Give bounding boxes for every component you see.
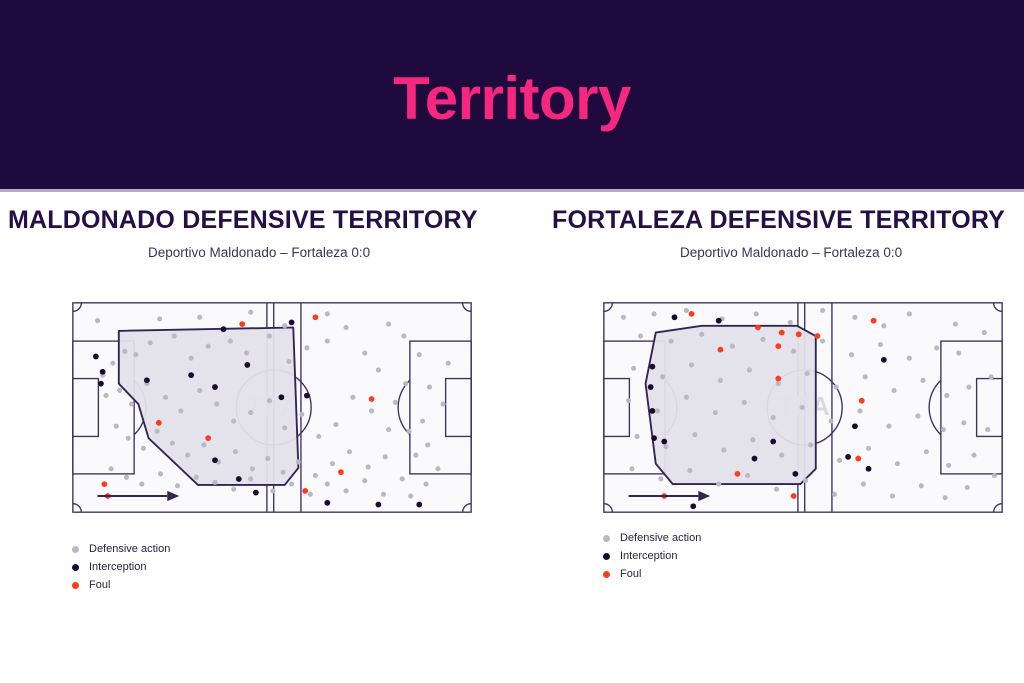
legend-label-interception: Interception	[620, 551, 677, 562]
event-dot-foul	[791, 493, 797, 499]
event-dot-foul	[239, 321, 245, 327]
event-dot-defensive-action	[779, 453, 784, 458]
event-dot-defensive-action	[201, 442, 206, 447]
event-dot-interception	[649, 408, 655, 414]
event-dot-defensive-action	[350, 395, 355, 400]
event-dot-foul	[871, 318, 877, 324]
event-dot-defensive-action	[206, 344, 211, 349]
event-dot-defensive-action	[427, 385, 432, 390]
event-dot-interception	[212, 384, 218, 390]
event-dot-defensive-action	[133, 352, 138, 357]
event-dot-interception	[289, 320, 295, 326]
event-dot-defensive-action	[267, 398, 272, 403]
event-dot-defensive-action	[788, 320, 793, 325]
event-dot-defensive-action	[189, 356, 194, 361]
page-title: Territory	[393, 69, 631, 129]
event-dot-defensive-action	[308, 492, 313, 497]
event-dot-defensive-action	[383, 454, 388, 459]
event-dot-defensive-action	[362, 350, 367, 355]
event-dot-defensive-action	[803, 478, 808, 483]
event-dot-interception	[649, 364, 655, 370]
event-dot-defensive-action	[742, 400, 747, 405]
event-dot-defensive-action	[982, 330, 987, 335]
event-dot-defensive-action	[669, 339, 674, 344]
event-dot-defensive-action	[313, 473, 318, 478]
legend-label-interception: Interception	[89, 562, 146, 573]
event-dot-defensive-action	[124, 475, 129, 480]
event-dot-defensive-action	[920, 378, 925, 383]
event-dot-defensive-action	[386, 322, 391, 327]
event-dot-defensive-action	[890, 493, 895, 498]
event-dot-defensive-action	[304, 345, 309, 350]
page-banner: Territory	[0, 0, 1024, 189]
event-dot-defensive-action	[343, 325, 348, 330]
event-dot-defensive-action	[282, 323, 287, 328]
event-dot-defensive-action	[401, 333, 406, 338]
event-dot-defensive-action	[126, 436, 131, 441]
event-dot-interception	[792, 471, 798, 477]
event-dot-interception	[278, 394, 284, 400]
event-dot-defensive-action	[895, 461, 900, 466]
event-dot-defensive-action	[820, 339, 825, 344]
event-dot-interception	[651, 435, 657, 441]
legend-label-foul: Foul	[620, 569, 641, 580]
event-dot-foul	[313, 314, 319, 320]
event-dot-defensive-action	[881, 323, 886, 328]
event-dot-defensive-action	[687, 468, 692, 473]
event-dot-defensive-action	[376, 368, 381, 373]
event-dot-interception	[845, 454, 851, 460]
event-dot-defensive-action	[231, 419, 236, 424]
event-dot-defensive-action	[212, 480, 217, 485]
event-dot-interception	[852, 423, 858, 429]
event-dot-defensive-action	[652, 311, 657, 316]
event-dot-foul	[101, 481, 107, 487]
event-dot-defensive-action	[286, 359, 291, 364]
event-dot-defensive-action	[747, 368, 752, 373]
event-dot-defensive-action	[441, 402, 446, 407]
event-dot-defensive-action	[446, 361, 451, 366]
event-dot-defensive-action	[684, 395, 689, 400]
event-dot-defensive-action	[103, 393, 108, 398]
event-dot-defensive-action	[863, 374, 868, 379]
legend-item-foul: Foul	[72, 576, 170, 594]
event-dot-foul	[735, 471, 741, 477]
event-dot-interception	[881, 357, 887, 363]
event-dot-defensive-action	[965, 485, 970, 490]
event-dot-defensive-action	[157, 316, 162, 321]
event-dot-interception	[98, 381, 104, 387]
pitch-maldonado[interactable]: TFA	[72, 286, 472, 529]
event-dot-defensive-action	[435, 466, 440, 471]
event-dot-defensive-action	[886, 424, 891, 429]
event-dot-defensive-action	[866, 446, 871, 451]
event-dot-defensive-action	[966, 385, 971, 390]
event-dot-interception	[144, 377, 150, 383]
event-dot-defensive-action	[281, 470, 286, 475]
legend-item-defensive-action: Defensive action	[603, 529, 701, 547]
event-dot-interception	[324, 500, 330, 506]
event-dot-defensive-action	[629, 466, 634, 471]
event-dot-defensive-action	[343, 488, 348, 493]
event-dot-foul	[302, 488, 308, 494]
event-dot-defensive-action	[638, 333, 643, 338]
event-dot-defensive-action	[800, 405, 805, 410]
event-dot-interception	[866, 466, 872, 472]
pitch-fortaleza[interactable]: TFA	[603, 286, 1003, 529]
event-dot-defensive-action	[892, 388, 897, 393]
event-dot-defensive-action	[699, 332, 704, 337]
event-dot-defensive-action	[943, 495, 948, 500]
event-dot-defensive-action	[333, 422, 338, 427]
event-dot-foul	[205, 435, 211, 441]
event-dot-interception	[690, 503, 696, 509]
event-dot-defensive-action	[117, 388, 122, 393]
event-dot-defensive-action	[362, 478, 367, 483]
event-dot-interception	[212, 457, 218, 463]
legend-maldonado: Defensive action Interception Foul	[72, 540, 170, 594]
event-dot-foul	[796, 331, 802, 337]
event-dot-defensive-action	[721, 448, 726, 453]
event-dot-foul	[815, 333, 821, 339]
event-dot-defensive-action	[621, 315, 626, 320]
pitch-svg-maldonado: TFA	[72, 286, 472, 529]
event-dot-foul	[718, 347, 724, 353]
event-dot-defensive-action	[400, 476, 405, 481]
event-dot-defensive-action	[163, 395, 168, 400]
event-dot-defensive-action	[330, 461, 335, 466]
event-dot-defensive-action	[934, 345, 939, 350]
event-dot-defensive-action	[631, 366, 636, 371]
event-dot-interception	[244, 362, 250, 368]
event-dot-defensive-action	[423, 482, 428, 487]
event-dot-defensive-action	[713, 410, 718, 415]
event-dot-defensive-action	[425, 442, 430, 447]
event-dot-defensive-action	[178, 408, 183, 413]
event-dot-defensive-action	[197, 388, 202, 393]
legend-label-defensive-action: Defensive action	[89, 544, 170, 555]
event-dot-defensive-action	[129, 402, 134, 407]
event-dot-interception	[236, 476, 242, 482]
event-dot-defensive-action	[175, 483, 180, 488]
legend-dot-foul-icon	[603, 571, 610, 578]
event-dot-foul	[779, 330, 785, 336]
event-dot-defensive-action	[325, 311, 330, 316]
banner-divider	[0, 189, 1024, 192]
event-dot-interception	[648, 384, 654, 390]
event-dot-defensive-action	[919, 483, 924, 488]
panel-subtitle-maldonado: Deportivo Maldonado – Fortaleza 0:0	[148, 245, 370, 260]
event-dot-defensive-action	[915, 413, 920, 418]
event-dot-defensive-action	[386, 427, 391, 432]
event-dot-defensive-action	[961, 420, 966, 425]
legend-label-foul: Foul	[89, 580, 110, 591]
event-dot-defensive-action	[808, 442, 813, 447]
event-dot-defensive-action	[248, 410, 253, 415]
event-dot-interception	[304, 393, 310, 399]
event-dot-interception	[100, 369, 106, 375]
event-dot-defensive-action	[158, 471, 163, 476]
event-dot-defensive-action	[791, 349, 796, 354]
event-dot-defensive-action	[834, 385, 839, 390]
event-dot-defensive-action	[774, 487, 779, 492]
event-dot-defensive-action	[289, 482, 294, 487]
event-dot-defensive-action	[692, 432, 697, 437]
event-dot-defensive-action	[250, 466, 255, 471]
event-dot-interception	[375, 502, 381, 508]
event-dot-defensive-action	[684, 308, 689, 313]
event-dot-interception	[661, 439, 667, 445]
event-dot-defensive-action	[663, 444, 668, 449]
event-dot-foul	[855, 456, 861, 462]
event-dot-defensive-action	[837, 458, 842, 463]
legend-item-interception: Interception	[72, 558, 170, 576]
event-dot-defensive-action	[185, 453, 190, 458]
event-dot-defensive-action	[393, 400, 398, 405]
event-dot-interception	[188, 372, 194, 378]
event-dot-defensive-action	[325, 339, 330, 344]
event-dot-defensive-action	[760, 337, 765, 342]
event-dot-defensive-action	[141, 446, 146, 451]
event-dot-defensive-action	[110, 361, 115, 366]
legend-label-defensive-action: Defensive action	[620, 533, 701, 544]
event-dot-defensive-action	[148, 340, 153, 345]
legend-item-foul: Foul	[603, 565, 701, 583]
event-dot-defensive-action	[267, 333, 272, 338]
event-dot-defensive-action	[231, 487, 236, 492]
event-dot-foul	[156, 420, 162, 426]
event-dot-defensive-action	[369, 408, 374, 413]
panel-title-fortaleza: FORTALEZA DEFENSIVE TERRITORY	[552, 206, 1005, 235]
pitch-svg-fortaleza: TFA	[603, 286, 1003, 529]
event-dot-defensive-action	[122, 349, 127, 354]
legend-item-interception: Interception	[603, 547, 701, 565]
event-dot-defensive-action	[420, 419, 425, 424]
event-dot-defensive-action	[248, 310, 253, 315]
legend-fortaleza: Defensive action Interception Foul	[603, 529, 701, 583]
event-dot-defensive-action	[992, 473, 997, 478]
event-dot-defensive-action	[381, 492, 386, 497]
event-dot-interception	[716, 318, 722, 324]
event-dot-defensive-action	[95, 318, 100, 323]
event-dot-defensive-action	[248, 476, 253, 481]
event-dot-defensive-action	[745, 473, 750, 478]
event-dot-defensive-action	[417, 352, 422, 357]
event-dot-defensive-action	[754, 311, 759, 316]
event-dot-defensive-action	[366, 465, 371, 470]
event-dot-foul	[369, 396, 375, 402]
event-dot-defensive-action	[403, 381, 408, 386]
event-dot-defensive-action	[820, 308, 825, 313]
event-dot-interception	[93, 354, 99, 360]
panel-title-maldonado: MALDONADO DEFENSIVE TERRITORY	[8, 206, 478, 235]
event-dot-defensive-action	[924, 449, 929, 454]
event-dot-defensive-action	[197, 315, 202, 320]
event-dot-defensive-action	[109, 466, 114, 471]
event-dot-defensive-action	[325, 482, 330, 487]
event-dot-defensive-action	[989, 374, 994, 379]
event-dot-defensive-action	[296, 459, 301, 464]
event-dot-defensive-action	[718, 378, 723, 383]
event-dot-defensive-action	[233, 449, 238, 454]
legend-dot-interception-icon	[603, 553, 610, 560]
event-dot-foul	[775, 343, 781, 349]
event-dot-defensive-action	[408, 493, 413, 498]
event-dot-defensive-action	[689, 362, 694, 367]
event-dot-interception	[672, 314, 678, 320]
event-dot-defensive-action	[771, 415, 776, 420]
event-dot-defensive-action	[857, 408, 862, 413]
event-dot-defensive-action	[805, 371, 810, 376]
event-dot-defensive-action	[946, 463, 951, 468]
event-dot-defensive-action	[655, 408, 660, 413]
event-dot-interception	[752, 456, 758, 462]
event-dot-defensive-action	[658, 476, 663, 481]
event-dot-interception	[221, 326, 227, 332]
event-dot-defensive-action	[750, 437, 755, 442]
event-dot-foul	[859, 398, 865, 404]
event-dot-defensive-action	[347, 449, 352, 454]
event-dot-defensive-action	[634, 434, 639, 439]
event-dot-defensive-action	[413, 453, 418, 458]
event-dot-defensive-action	[972, 453, 977, 458]
event-dot-defensive-action	[114, 424, 119, 429]
event-dot-defensive-action	[406, 429, 411, 434]
event-dot-defensive-action	[316, 434, 321, 439]
event-dot-foul	[689, 311, 695, 317]
event-dot-defensive-action	[270, 488, 275, 493]
event-dot-defensive-action	[956, 350, 961, 355]
event-dot-defensive-action	[228, 339, 233, 344]
legend-dot-defensive-action-icon	[603, 535, 610, 542]
event-dot-defensive-action	[878, 342, 883, 347]
event-dot-interception	[253, 490, 259, 496]
event-dot-defensive-action	[941, 427, 946, 432]
event-dot-defensive-action	[660, 374, 665, 379]
territory-polygon-fortaleza	[646, 326, 816, 484]
event-dot-defensive-action	[852, 315, 857, 320]
event-dot-defensive-action	[849, 352, 854, 357]
event-dot-defensive-action	[626, 398, 631, 403]
event-dot-defensive-action	[730, 344, 735, 349]
event-dot-defensive-action	[829, 419, 834, 424]
event-dot-defensive-action	[194, 475, 199, 480]
event-dot-foul	[755, 325, 761, 331]
legend-dot-interception-icon	[72, 564, 79, 571]
event-dot-defensive-action	[907, 356, 912, 361]
event-dot-defensive-action	[172, 333, 177, 338]
event-dot-interception	[416, 502, 422, 508]
event-dot-defensive-action	[282, 425, 287, 430]
event-dot-defensive-action	[244, 350, 249, 355]
event-dot-defensive-action	[716, 482, 721, 487]
event-dot-interception	[770, 439, 776, 445]
legend-dot-defensive-action-icon	[72, 546, 79, 553]
event-dot-defensive-action	[139, 482, 144, 487]
legend-item-defensive-action: Defensive action	[72, 540, 170, 558]
event-dot-defensive-action	[861, 482, 866, 487]
event-dot-defensive-action	[170, 441, 175, 446]
event-dot-foul	[338, 469, 344, 475]
event-dot-defensive-action	[214, 402, 219, 407]
event-dot-defensive-action	[985, 427, 990, 432]
event-dot-defensive-action	[776, 381, 781, 386]
legend-dot-foul-icon	[72, 582, 79, 589]
event-dot-defensive-action	[832, 492, 837, 497]
event-dot-defensive-action	[299, 412, 304, 417]
event-dot-foul	[775, 376, 781, 382]
panel-subtitle-fortaleza: Deportivo Maldonado – Fortaleza 0:0	[680, 245, 902, 260]
event-dot-defensive-action	[265, 456, 270, 461]
event-dot-defensive-action	[907, 311, 912, 316]
event-dot-defensive-action	[155, 429, 160, 434]
event-dot-defensive-action	[953, 322, 958, 327]
event-dot-defensive-action	[944, 393, 949, 398]
